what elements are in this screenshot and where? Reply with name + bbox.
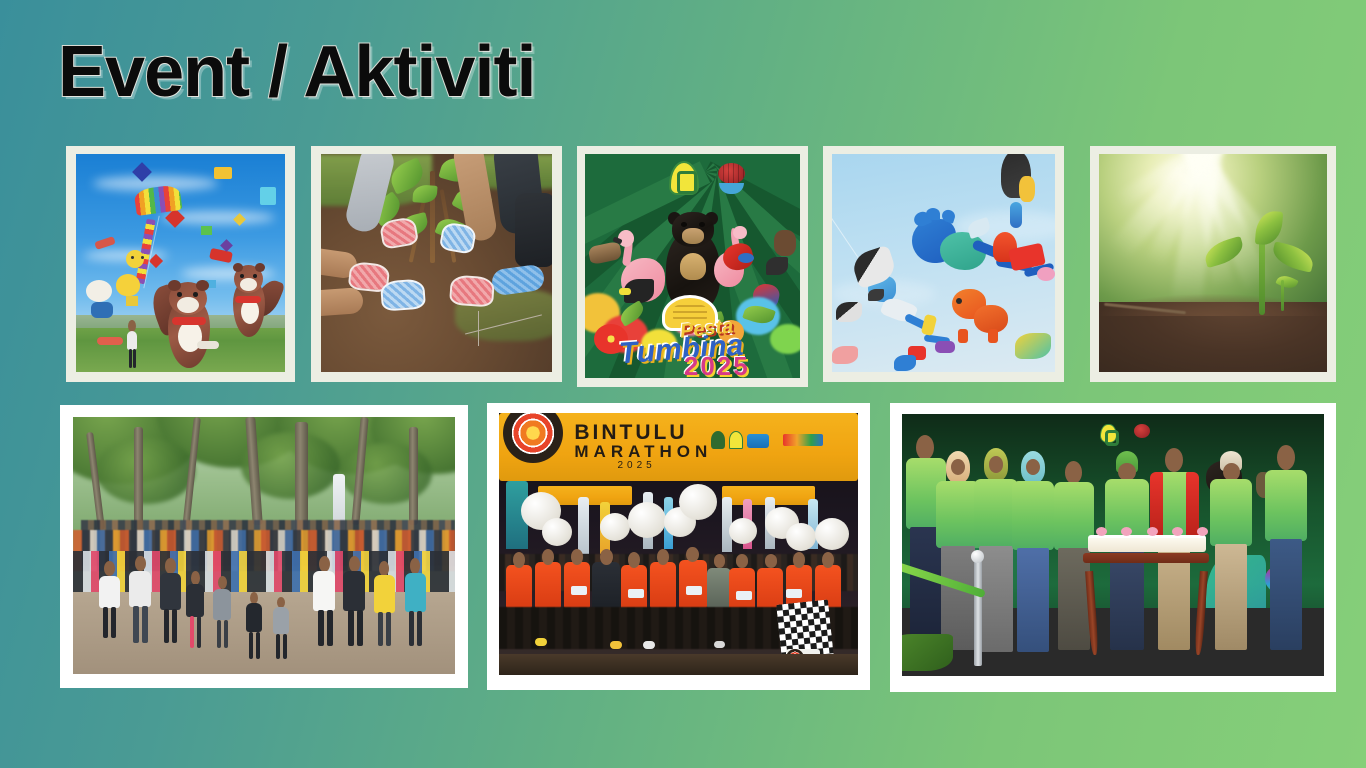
marathon-banner-year: 2025 — [617, 460, 655, 471]
gallery-card-tree-planting[interactable] — [311, 146, 562, 382]
community-group-photo — [73, 417, 455, 674]
seedling-photo — [1099, 154, 1327, 372]
poster-title-year: 2025 — [684, 351, 750, 378]
gallery-card-community-group[interactable] — [60, 405, 468, 688]
marathon-banner-line2: MARATHON — [574, 442, 712, 462]
council-globe-logo — [718, 163, 745, 195]
cake-cutting-photo — [902, 414, 1324, 676]
bintulu-port-logo — [747, 434, 769, 448]
page-title: Event / Aktiviti — [58, 36, 535, 108]
bintulu-marathon-photo: BINTULU MARATHON 2025 — [499, 413, 858, 675]
gallery-card-seedling[interactable] — [1090, 146, 1336, 382]
pesta-tumbina-poster: Pesta Tumbina 2025 — [585, 154, 800, 378]
gallery-card-kites-sky[interactable] — [823, 146, 1064, 382]
slide-canvas: Event / Aktiviti — [0, 0, 1366, 768]
state-crest-logo — [711, 431, 725, 449]
ceremony-cake — [1088, 535, 1206, 552]
sarawak-logo — [783, 434, 823, 446]
kite-festival-photo — [76, 154, 285, 372]
kites-in-sky-photo — [832, 154, 1055, 372]
council-logo — [729, 431, 743, 449]
gallery-card-pesta-tumbina[interactable]: Pesta Tumbina 2025 — [577, 146, 808, 387]
tree-planting-photo — [321, 154, 552, 372]
gallery-card-kite-festival[interactable] — [66, 146, 295, 382]
gallery-card-bintulu-marathon[interactable]: BINTULU MARATHON 2025 — [487, 403, 870, 690]
gallery-card-cake-cutting[interactable] — [890, 403, 1336, 692]
